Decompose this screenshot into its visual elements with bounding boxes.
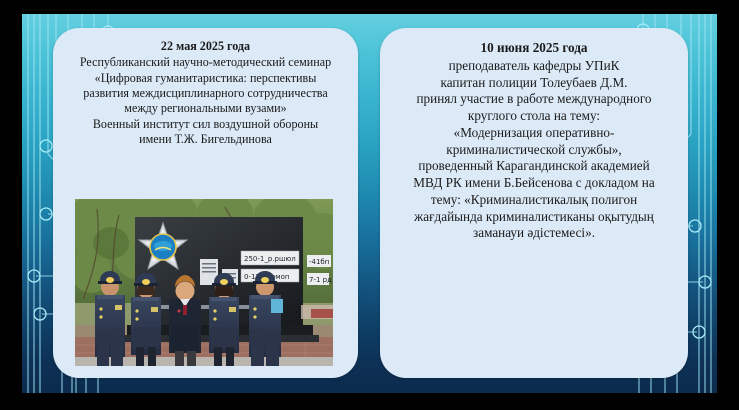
right-card-line-7: проведенный Карагандинской академией — [388, 158, 680, 175]
left-card-line-6: имени Т.Ж. Бигельдинова — [61, 132, 350, 147]
letterbox-left — [0, 0, 22, 410]
left-card-line-1: Республиканский научно-методический семи… — [61, 55, 350, 70]
svg-text:-41бп: -41бп — [309, 258, 329, 266]
letterbox-top — [0, 0, 739, 14]
left-card-text: 22 мая 2025 года Республиканский научно-… — [53, 28, 358, 147]
left-card-line-3: развития междисциплинарного сотрудничест… — [61, 86, 350, 101]
svg-text:250-1_р.ршюл: 250-1_р.ршюл — [244, 255, 296, 263]
letterbox-right — [717, 0, 739, 410]
right-card-line-8: МВД РК имени Б.Бейсенова с докладом на — [388, 175, 680, 192]
right-card-line-9: тему: «Криминалистикалық полигон — [388, 192, 680, 209]
right-card-line-5: «Модернизация оперативно- — [388, 125, 680, 142]
right-card-line-3: принял участие в работе международного — [388, 91, 680, 108]
letterbox-bottom — [0, 393, 739, 410]
right-content-card: 10 июня 2025 года преподаватель кафедры … — [380, 28, 688, 378]
right-card-line-6: криминалистической службы», — [388, 142, 680, 159]
right-card-date: 10 июня 2025 года — [388, 40, 680, 57]
right-card-text: 10 июня 2025 года преподаватель кафедры … — [380, 28, 688, 242]
left-card-line-5: Военный институт сил воздушной обороны — [61, 117, 350, 132]
photo-image: 250-1_р.ршюл 0-1202 омоп -41бп 7-1 рд — [75, 199, 333, 366]
left-card-line-2: «Цифровая гуманитаристика: перспективы — [61, 71, 350, 86]
left-content-card: 22 мая 2025 года Республиканский научно-… — [53, 28, 358, 378]
seminar-group-photo: 250-1_р.ршюл 0-1202 омоп -41бп 7-1 рд — [75, 199, 333, 366]
slide-stage: 22 мая 2025 года Республиканский научно-… — [0, 0, 739, 410]
presentation-slide: 22 мая 2025 года Республиканский научно-… — [22, 14, 717, 393]
svg-text:7-1 рд: 7-1 рд — [309, 276, 332, 284]
left-card-date: 22 мая 2025 года — [61, 39, 350, 54]
left-card-line-4: между региональными вузами» — [61, 101, 350, 116]
right-card-line-10: жағдайында криминалистиканы оқытудың — [388, 209, 680, 226]
right-card-line-2: капитан полиции Толеубаев Д.М. — [388, 75, 680, 92]
right-card-line-4: круглого стола на тему: — [388, 108, 680, 125]
right-card-line-1: преподаватель кафедры УПиК — [388, 58, 680, 75]
right-card-line-11: заманауи әдістемесі». — [388, 225, 680, 242]
